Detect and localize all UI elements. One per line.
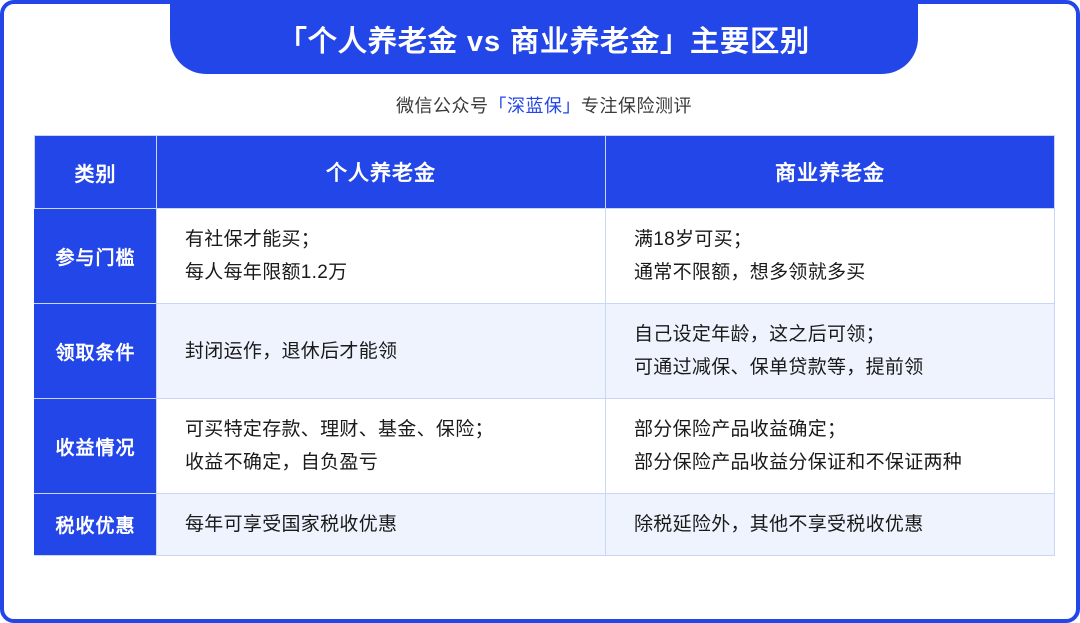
page-title: 「个人养老金 vs 商业养老金」主要区别 [278, 18, 810, 60]
table-row: 领取条件 封闭运作，退休后才能领 自己设定年龄，这之后可领； 可通过减保、保单贷… [35, 304, 1055, 399]
subtitle-account-name: 「深蓝保」 [489, 96, 582, 116]
row-category: 参与门槛 [35, 209, 157, 304]
row-cell-a: 有社保才能买； 每人每年限额1.2万 [157, 209, 606, 304]
table-row: 参与门槛 有社保才能买； 每人每年限额1.2万 满18岁可买； 通常不限额，想多… [35, 209, 1055, 304]
row-cell-a: 每年可享受国家税收优惠 [157, 494, 606, 556]
subtitle-prefix: 微信公众号 [396, 96, 489, 116]
row-cell-a: 可买特定存款、理财、基金、保险； 收益不确定，自负盈亏 [157, 399, 606, 494]
cell-line: 收益不确定，自负盈亏 [185, 446, 605, 479]
row-cell-a: 封闭运作，退休后才能领 [157, 304, 606, 399]
infographic-page: 「个人养老金 vs 商业养老金」主要区别 微信公众号「深蓝保」专注保险测评 深蓝… [0, 0, 1080, 623]
row-category: 税收优惠 [35, 494, 157, 556]
cell-line: 满18岁可买； [634, 223, 1054, 256]
row-category: 收益情况 [35, 399, 157, 494]
cell-line: 部分保险产品收益分保证和不保证两种 [634, 446, 1054, 479]
cell-line: 部分保险产品收益确定； [634, 413, 1054, 446]
cell-line: 自己设定年龄，这之后可领； [634, 318, 1054, 351]
cell-line: 封闭运作，退休后才能领 [185, 335, 605, 368]
header-column-b: 商业养老金 [606, 136, 1055, 209]
row-category: 领取条件 [35, 304, 157, 399]
subtitle: 微信公众号「深蓝保」专注保险测评 [4, 92, 1080, 118]
row-cell-b: 满18岁可买； 通常不限额，想多领就多买 [606, 209, 1055, 304]
cell-line: 有社保才能买； [185, 223, 605, 256]
row-cell-b: 部分保险产品收益确定； 部分保险产品收益分保证和不保证两种 [606, 399, 1055, 494]
cell-line: 除税延险外，其他不享受税收优惠 [634, 508, 1054, 541]
cell-line: 每人每年限额1.2万 [185, 256, 605, 289]
title-banner: 「个人养老金 vs 商业养老金」主要区别 [170, 0, 918, 74]
header-category: 类别 [35, 136, 157, 209]
cell-line: 可通过减保、保单贷款等，提前领 [634, 351, 1054, 384]
cell-line: 可买特定存款、理财、基金、保险； [185, 413, 605, 446]
cell-line: 每年可享受国家税收优惠 [185, 508, 605, 541]
header-column-a: 个人养老金 [157, 136, 606, 209]
table-row: 税收优惠 每年可享受国家税收优惠 除税延险外，其他不享受税收优惠 [35, 494, 1055, 556]
cell-line: 通常不限额，想多领就多买 [634, 256, 1054, 289]
row-cell-b: 自己设定年龄，这之后可领； 可通过减保、保单贷款等，提前领 [606, 304, 1055, 399]
row-cell-b: 除税延险外，其他不享受税收优惠 [606, 494, 1055, 556]
subtitle-suffix: 专注保险测评 [581, 96, 692, 116]
comparison-table: 类别 个人养老金 商业养老金 参与门槛 有社保才能买； 每人每年限额1.2万 满… [34, 135, 1055, 556]
table-row: 收益情况 可买特定存款、理财、基金、保险； 收益不确定，自负盈亏 部分保险产品收… [35, 399, 1055, 494]
table-header-row: 类别 个人养老金 商业养老金 [35, 136, 1055, 209]
